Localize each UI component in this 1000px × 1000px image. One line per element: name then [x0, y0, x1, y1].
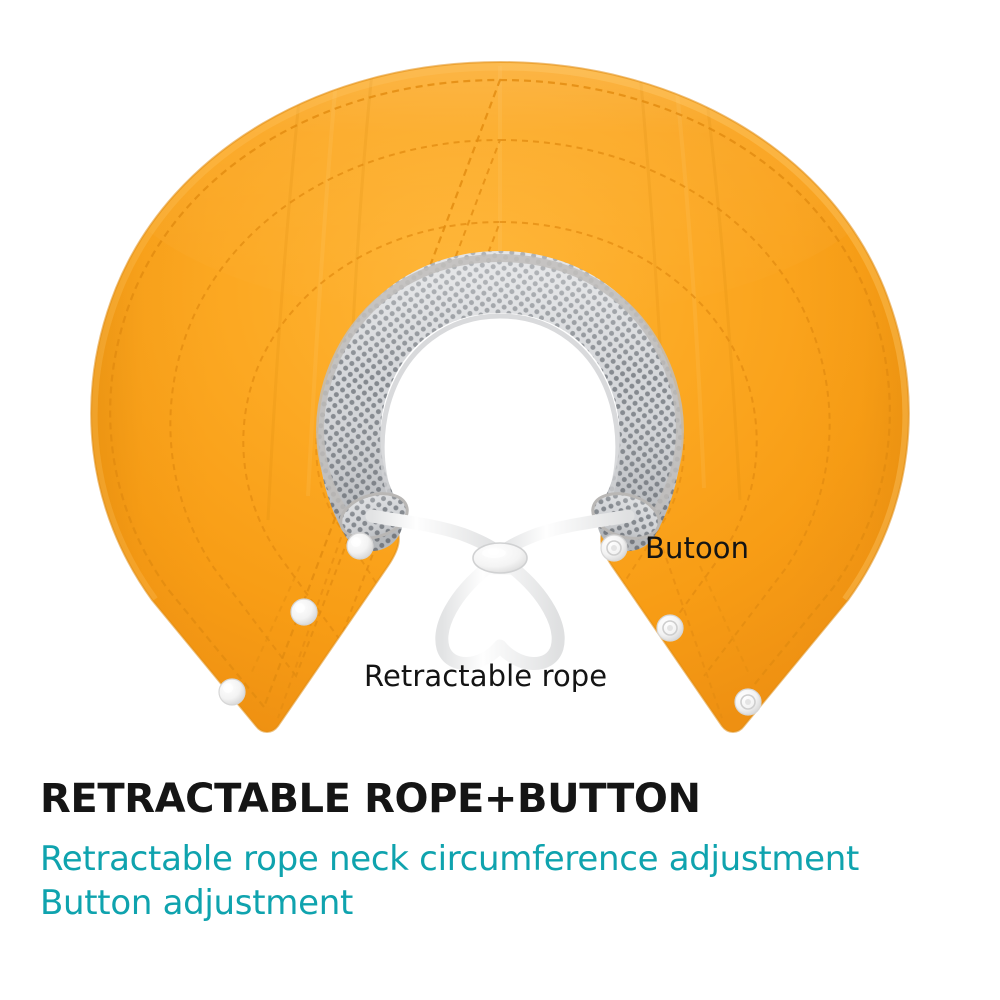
snap-stud [291, 599, 317, 625]
caption-subtitle-line-1: Retractable rope neck circumference adju… [40, 838, 980, 882]
product-photo: Butoon Retractable rope [0, 0, 1000, 770]
retractable-rope [372, 516, 628, 664]
snap-stud [347, 533, 373, 559]
snap-socket [601, 535, 627, 561]
snap-stud [219, 679, 245, 705]
mesh-neck-roll [320, 258, 680, 546]
caption-subtitle: Retractable rope neck circumference adju… [40, 838, 980, 925]
snap-socket [657, 615, 683, 641]
caption-block: RETRACTABLE ROPE+BUTTON Retractable rope… [40, 778, 980, 925]
mesh-inner-binding [382, 316, 618, 520]
cord-toggle [473, 543, 527, 573]
rope-loop [442, 568, 558, 664]
snap-socket [735, 689, 761, 715]
product-image-page: Butoon Retractable rope RETRACTABLE ROPE… [0, 0, 1000, 1000]
annotation-retractable-rope-label: Retractable rope [364, 662, 607, 691]
caption-title: RETRACTABLE ROPE+BUTTON [40, 778, 980, 820]
annotation-button-label: Butoon [645, 534, 749, 563]
caption-subtitle-line-2: Button adjustment [40, 882, 980, 926]
collar-illustration [0, 0, 1000, 770]
